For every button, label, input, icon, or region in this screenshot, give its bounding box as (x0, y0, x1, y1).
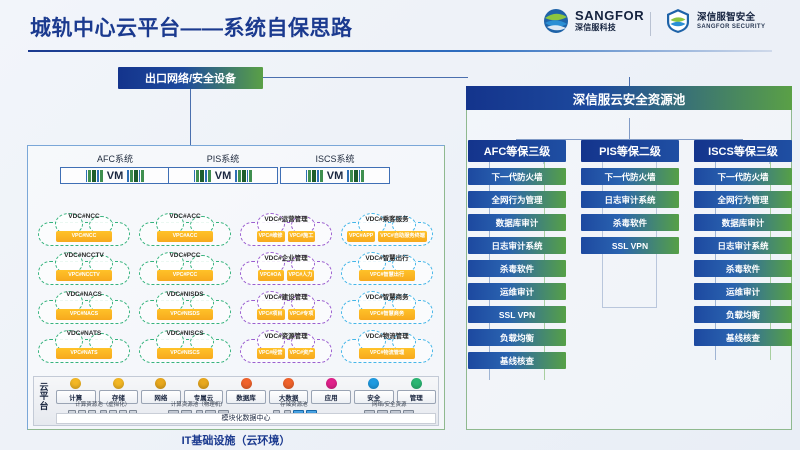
vdc-title: VDC#NACS (36, 291, 132, 298)
cloud-capability[interactable]: 网络 (141, 378, 181, 404)
cloud-capability[interactable]: 数据库 (226, 378, 266, 404)
resource-pool-label: 网络/安全资源 (343, 403, 437, 409)
vdc-column: VDC#运营管理VPC#维修VPC#施工VDC#企业管理VPC#OAVPC#人力… (238, 214, 334, 370)
cloud-capability-label[interactable]: 数据库 (226, 390, 266, 404)
vpc-badge[interactable]: VPC#施工 (288, 231, 316, 242)
vm-box[interactable]: VM (168, 167, 278, 184)
vdc-cloud[interactable]: VDC#NACSVPC#NACS (36, 292, 132, 324)
network-icon (155, 378, 166, 389)
resource-pool-label: 计算资源池（虚拟化） (56, 403, 150, 409)
vdc-cloud[interactable]: VDC#NATSVPC#NATS (36, 331, 132, 363)
vdc-cloud[interactable]: VDC#ACCVPC#ACC (137, 214, 233, 246)
security-service-item[interactable]: 运维审计 (468, 283, 566, 300)
vpc-row: VPC#NISCS (137, 348, 233, 363)
it-infrastructure-caption: IT基础设施（云环境） (27, 432, 445, 448)
sangfor-globe-logo-icon (543, 8, 569, 34)
vdc-cloud[interactable]: VDC#乘客服务VPC#APPVPC#自助服务终端 (339, 214, 435, 246)
vpc-badge[interactable]: VPC#NATS (56, 348, 112, 359)
bigdata-icon (283, 378, 294, 389)
system-group-afc[interactable]: AFC系统 VM (60, 152, 170, 184)
vpc-badge[interactable]: VPC#NCCTV (56, 270, 112, 281)
vdc-title: VDC#智慧商务 (339, 291, 435, 301)
modular-datacenter-label: 模块化数据中心 (56, 413, 436, 424)
vm-bars-right-icon (347, 170, 364, 182)
system-group-iscs[interactable]: ISCS系统 VM (280, 152, 390, 184)
vpc-row: VPC#ACC (137, 231, 233, 246)
vdc-cloud[interactable]: VDC#智慧商务VPC#智慧商务 (339, 292, 435, 324)
sangfor-primary-logo: SANGFOR 深信服科技 (543, 8, 644, 34)
resource-pool-label: 计算资源池（物理机） (152, 403, 246, 409)
dedicated-cloud-icon (198, 378, 209, 389)
security-service-item[interactable]: 负载均衡 (694, 306, 792, 323)
vpc-row: VPC#维修VPC#施工 (238, 231, 334, 246)
vdc-title: VDC#智慧出行 (339, 252, 435, 262)
cloud-capability[interactable]: 应用 (311, 378, 351, 404)
vdc-title: VDC#NISDS (137, 291, 233, 298)
vdc-title: VDC#企业管理 (238, 252, 334, 262)
security-service-item[interactable]: 全网行为管理 (694, 191, 792, 208)
vdc-title: VDC#NCCTV (36, 252, 132, 259)
vdc-cloud[interactable]: VDC#建设管理VPC#项目VPC#专项 (238, 292, 334, 324)
security-service-item[interactable]: 下一代防火墙 (468, 168, 566, 185)
vpc-row: VPC#智慧商务 (339, 309, 435, 324)
sangfor-logo-cn: 深信服科技 (575, 23, 644, 33)
security-column-header[interactable]: AFC等保三级 (468, 140, 566, 162)
vdc-cloud[interactable]: VDC#NISCSVPC#NISCS (137, 331, 233, 363)
vdc-column: VDC#ACCVPC#ACCVDC#PCCVPC#PCCVDC#NISDSVPC… (137, 214, 233, 370)
vpc-row: VPC#NCC (36, 231, 132, 246)
security-column-header[interactable]: ISCS等保三级 (694, 140, 792, 162)
connector-egress-to-infra (190, 89, 191, 145)
security-service-item[interactable]: 基线核查 (694, 329, 792, 346)
vdc-title: VDC#乘客服务 (339, 213, 435, 223)
cloud-capability-label[interactable]: 应用 (311, 390, 351, 404)
vdc-title: VDC#NISCS (137, 330, 233, 337)
security-service-item[interactable]: 基线核查 (468, 352, 566, 369)
vpc-row: VPC#NISDS (137, 309, 233, 324)
cloud-capability-row: 计算存储网络专属云数据库大数据应用安全管理 (56, 378, 436, 404)
vpc-badge[interactable]: VPC#智慧商务 (359, 309, 415, 320)
vdc-column: VDC#乘客服务VPC#APPVPC#自助服务终端VDC#智慧出行VPC#智慧出… (339, 214, 435, 370)
connector-pool-top (629, 77, 630, 86)
vdc-cloud[interactable]: VDC#资源管理VPC#经营VPC#资产 (238, 331, 334, 363)
vpc-badge[interactable]: VPC#物流管理 (359, 348, 415, 359)
vm-bars-left-icon (86, 170, 103, 182)
vm-label: VM (107, 170, 124, 182)
vpc-row: VPC#经营VPC#资产 (238, 348, 334, 363)
vdc-cloud[interactable]: VDC#企业管理VPC#OAVPC#人力 (238, 253, 334, 285)
vpc-row: VPC#智慧出行 (339, 270, 435, 285)
management-icon (411, 378, 422, 389)
security-column-pis: PIS等保二级下一代防火墙日志审计系统杀毒软件SSL VPN (581, 140, 679, 254)
security-service-item[interactable]: 日志审计系统 (468, 237, 566, 254)
security-service-item[interactable]: 负载均衡 (468, 329, 566, 346)
system-label: AFC系统 (60, 152, 170, 165)
cloud-security-resource-pool-title: 深信服云安全资源池 (466, 86, 792, 110)
vpc-row: VPC#物流管理 (339, 348, 435, 363)
vpc-badge[interactable]: VPC#NACS (56, 309, 112, 320)
vpc-badge[interactable]: VPC#维修 (257, 231, 285, 242)
vdc-title: VDC#运营管理 (238, 213, 334, 223)
vpc-row: VPC#NCCTV (36, 270, 132, 285)
security-service-item[interactable]: 下一代防火墙 (694, 168, 792, 185)
vdc-cloud[interactable]: VDC#NISDSVPC#NISDS (137, 292, 233, 324)
vdc-cloud[interactable]: VDC#NCCTVVPC#NCCTV (36, 253, 132, 285)
vdc-column: VDC#NCCVPC#NCCVDC#NCCTVVPC#NCCTVVDC#NACS… (36, 214, 132, 370)
sangfor-security-logo: 深信服智安全 SANGFOR SECURITY (665, 8, 765, 34)
cloud-capability[interactable]: 存储 (99, 378, 139, 404)
vdc-title: VDC#NCC (36, 213, 132, 220)
vpc-badge[interactable]: VPC#专项 (288, 309, 316, 320)
vdc-title: VDC#建设管理 (238, 291, 334, 301)
vpc-row: VPC#APPVPC#自助服务终端 (339, 231, 435, 246)
vpc-row: VPC#PCC (137, 270, 233, 285)
vpc-badge[interactable]: VPC#NISCS (157, 348, 213, 359)
vdc-title: VDC#PCC (137, 252, 233, 259)
cloud-platform-side-label: 云平台 (36, 383, 52, 411)
vpc-row: VPC#NATS (36, 348, 132, 363)
vpc-badge[interactable]: VPC#PCC (157, 270, 213, 281)
storage-icon (113, 378, 124, 389)
system-label: PIS系统 (168, 152, 278, 165)
vm-box[interactable]: VM (60, 167, 170, 184)
system-label: ISCS系统 (280, 152, 390, 165)
vdc-cloud[interactable]: VDC#智慧出行VPC#智慧出行 (339, 253, 435, 285)
vpc-badge[interactable]: VPC#经营 (257, 348, 285, 359)
vdc-title: VDC#NATS (36, 330, 132, 337)
header-divider (28, 50, 772, 52)
vdc-title: VDC#ACC (137, 213, 233, 220)
cloud-capability[interactable]: 专属云 (184, 378, 224, 404)
cloud-platform-bar: 云平台 计算存储网络专属云数据库大数据应用安全管理 计算资源池（虚拟化）计算资源… (33, 376, 439, 426)
security-column-iscs: ISCS等保三级下一代防火墙全网行为管理数据库审计日志审计系统杀毒软件运维审计负… (694, 140, 792, 346)
logo-divider (650, 12, 651, 36)
vpc-badge[interactable]: VPC#资产 (288, 348, 316, 359)
sangfor-security-cn: 深信服智安全 (697, 12, 765, 23)
vpc-badge[interactable]: VPC#APP (347, 231, 375, 242)
vdc-title: VDC#物流管理 (339, 330, 435, 340)
security-service-item[interactable]: 日志审计系统 (694, 237, 792, 254)
vdc-cloud[interactable]: VDC#物流管理VPC#物流管理 (339, 331, 435, 363)
cloud-capability[interactable]: 大数据 (269, 378, 309, 404)
cloud-capability[interactable]: 安全 (354, 378, 394, 404)
vm-box[interactable]: VM (280, 167, 390, 184)
page-title: 城轨中心云平台——系统自保思路 (30, 12, 353, 42)
vpc-row: VPC#NACS (36, 309, 132, 324)
security-service-item[interactable]: 日志审计系统 (581, 191, 679, 208)
cloud-capability[interactable]: 计算 (56, 378, 96, 404)
egress-network-security-device-box[interactable]: 出口网络/安全设备 (118, 67, 263, 89)
security-service-item[interactable]: SSL VPN (468, 306, 566, 323)
security-column-afc: AFC等保三级下一代防火墙全网行为管理数据库审计日志审计系统杀毒软件运维审计SS… (468, 140, 566, 369)
vdc-cloud-grid: VDC#NCCVPC#NCCVDC#NCCTVVPC#NCCTVVDC#NACS… (36, 214, 438, 374)
security-icon (368, 378, 379, 389)
vpc-badge[interactable]: VPC#OA (258, 270, 284, 281)
security-column-header[interactable]: PIS等保二级 (581, 140, 679, 162)
cloud-capability[interactable]: 管理 (397, 378, 437, 404)
security-service-item[interactable]: 数据库审计 (694, 214, 792, 231)
security-service-item[interactable]: 下一代防火墙 (581, 168, 679, 185)
vdc-cloud[interactable]: VDC#运营管理VPC#维修VPC#施工 (238, 214, 334, 246)
application-icon (326, 378, 337, 389)
vpc-row: VPC#OAVPC#人力 (238, 270, 334, 285)
security-service-item[interactable]: 杀毒软件 (581, 214, 679, 231)
vdc-cloud[interactable]: VDC#PCCVPC#PCC (137, 253, 233, 285)
vpc-badge[interactable]: VPC#人力 (287, 270, 315, 281)
security-service-item[interactable]: 杀毒软件 (694, 260, 792, 277)
vm-label: VM (327, 170, 344, 182)
system-group-pis[interactable]: PIS系统 VM (168, 152, 278, 184)
vpc-badge[interactable]: VPC#智慧出行 (359, 270, 415, 281)
vm-label: VM (215, 170, 232, 182)
vpc-badge[interactable]: VPC#NCC (56, 231, 112, 242)
vm-bars-right-icon (235, 170, 252, 182)
resource-pool-label: 存储资源池 (247, 403, 341, 409)
connector-egress-to-pool (263, 77, 468, 78)
vpc-badge[interactable]: VPC#NISDS (157, 309, 213, 320)
vpc-badge[interactable]: VPC#ACC (157, 231, 213, 242)
sangfor-logo-name: SANGFOR (575, 9, 644, 23)
security-service-item[interactable]: 运维审计 (694, 283, 792, 300)
vm-bars-left-icon (194, 170, 211, 182)
security-service-item[interactable]: SSL VPN (581, 237, 679, 254)
compute-icon (70, 378, 81, 389)
vpc-badge[interactable]: VPC#项目 (257, 309, 285, 320)
security-service-item[interactable]: 全网行为管理 (468, 191, 566, 208)
vm-bars-right-icon (127, 170, 144, 182)
vdc-title: VDC#资源管理 (238, 330, 334, 340)
security-service-item[interactable]: 杀毒软件 (468, 260, 566, 277)
sangfor-shield-logo-icon (665, 8, 691, 34)
page-header: 城轨中心云平台——系统自保思路 SANGFOR 深信服科技 深信服智安全 SAN… (0, 0, 800, 52)
vdc-cloud[interactable]: VDC#NCCVPC#NCC (36, 214, 132, 246)
database-icon (241, 378, 252, 389)
security-service-item[interactable]: 数据库审计 (468, 214, 566, 231)
vm-bars-left-icon (306, 170, 323, 182)
vpc-row: VPC#项目VPC#专项 (238, 309, 334, 324)
vpc-badge[interactable]: VPC#自助服务终端 (378, 231, 427, 242)
sangfor-security-en: SANGFOR SECURITY (697, 24, 765, 30)
